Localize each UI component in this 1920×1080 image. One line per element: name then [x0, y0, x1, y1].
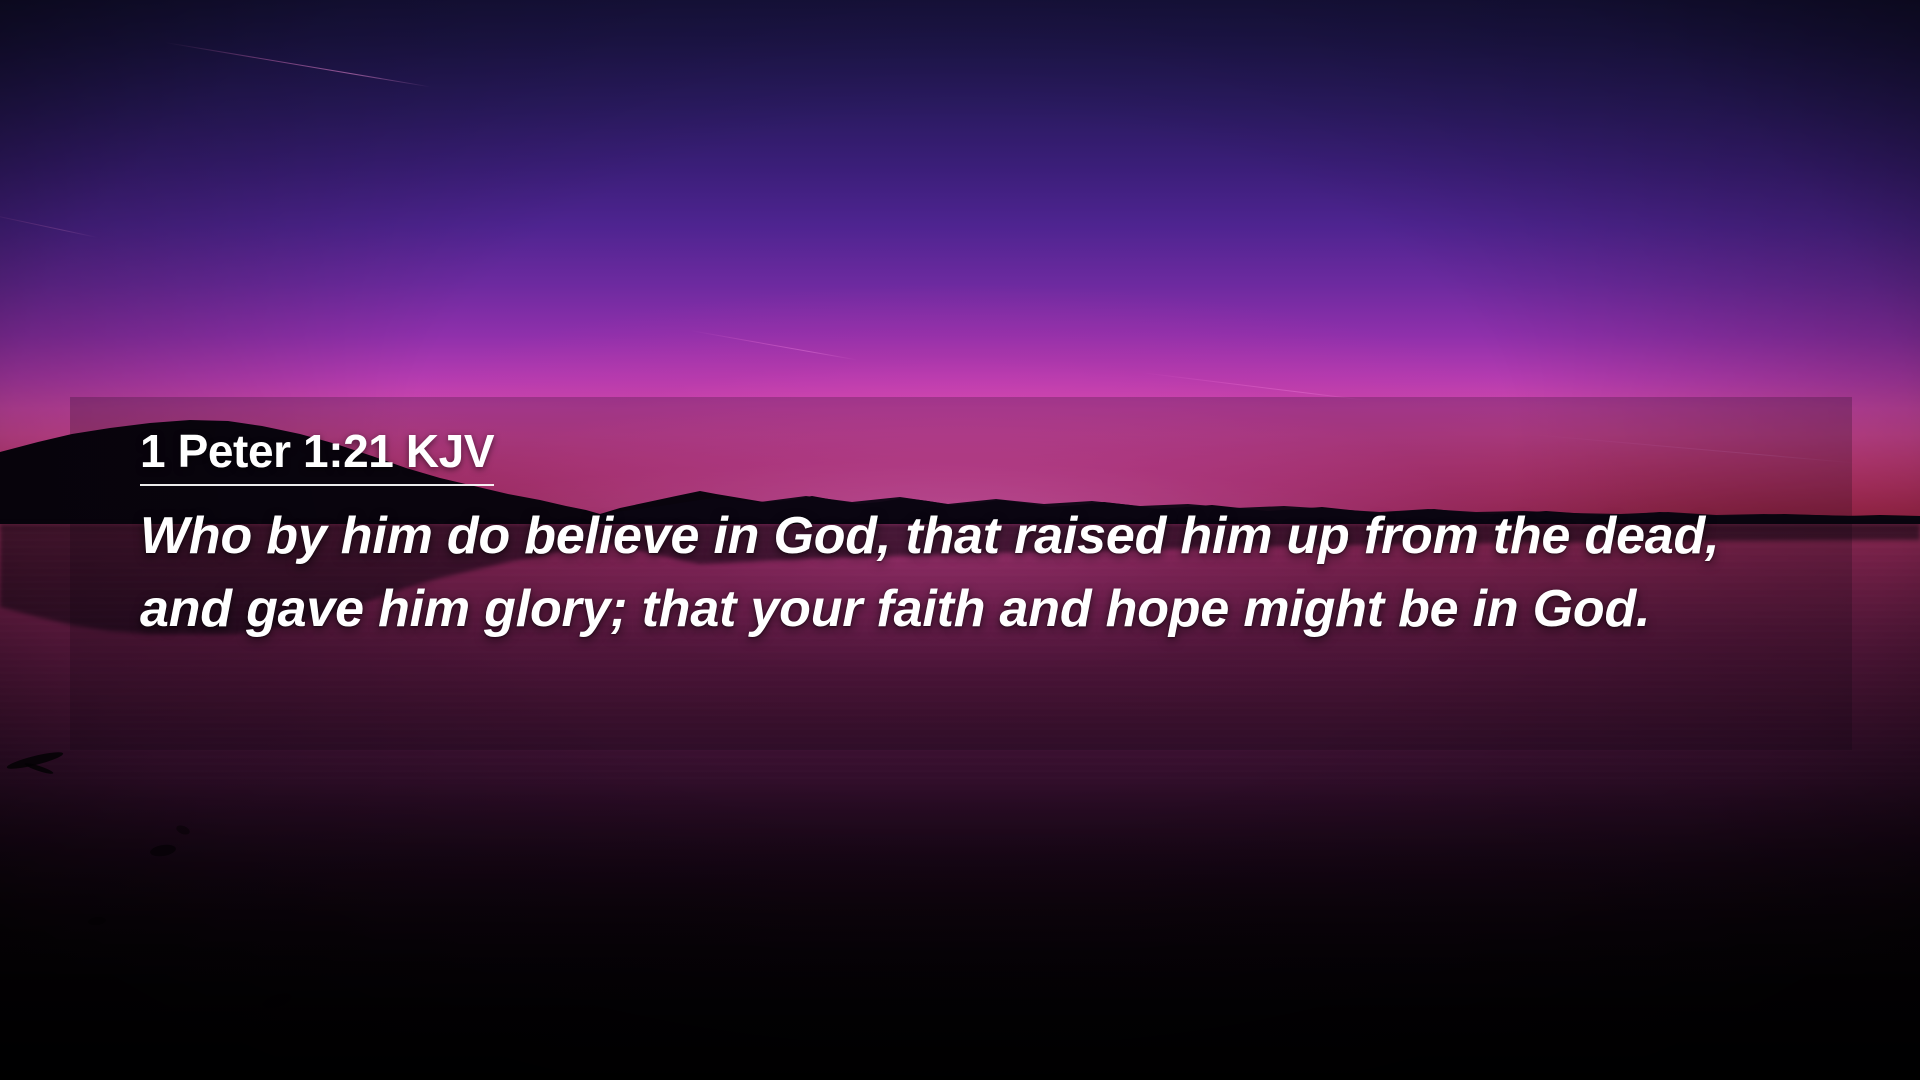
verse-content: 1 Peter 1:21 KJV Who by him do believe i… — [140, 422, 1840, 646]
verse-wallpaper: 1 Peter 1:21 KJV Who by him do believe i… — [0, 0, 1920, 1080]
verse-text: Who by him do believe in God, that raise… — [140, 500, 1770, 646]
verse-reference: 1 Peter 1:21 KJV — [140, 422, 494, 486]
